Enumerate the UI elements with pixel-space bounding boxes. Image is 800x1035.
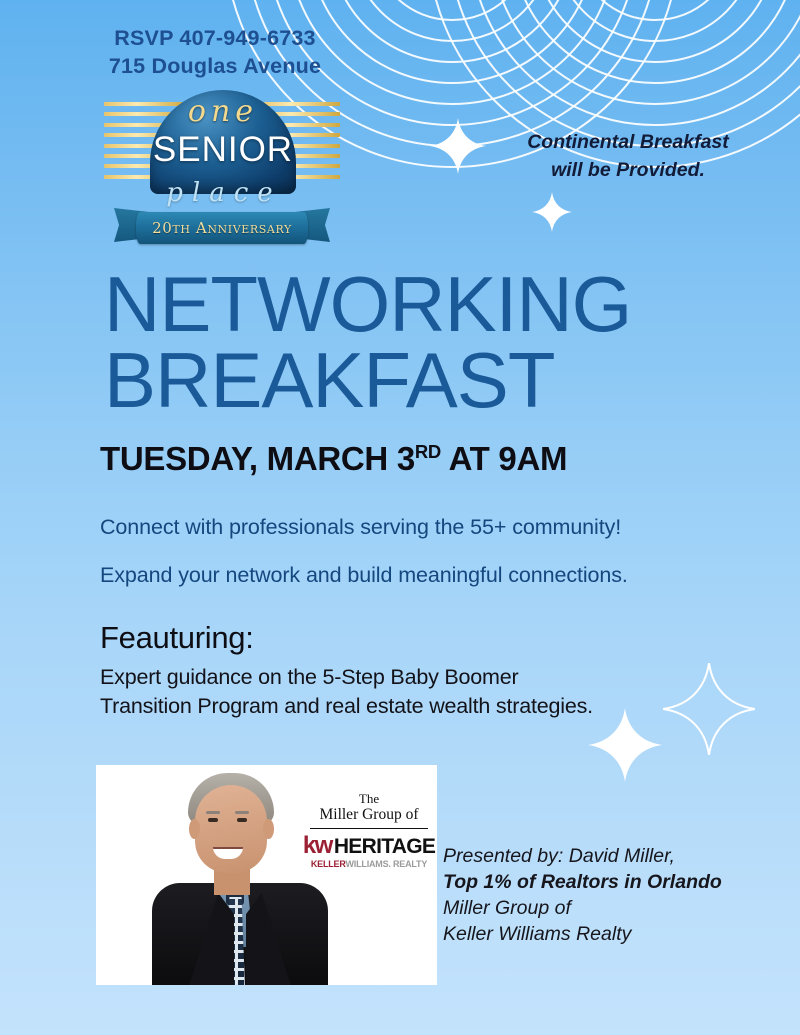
- kw-tagline-williams: WILLIAMS. REALTY: [346, 859, 428, 869]
- kw-logo-group-of: Miller Group of: [310, 806, 428, 829]
- decorative-ring: [553, 0, 757, 42]
- anniversary-label: 20th Anniversary: [136, 219, 308, 237]
- presenter-line4: Keller Williams Realty: [443, 921, 783, 947]
- breakfast-note-line1: Continental Breakfast: [478, 128, 778, 156]
- intro-line-2: Expand your network and build meaningful…: [100, 563, 628, 588]
- portrait-brow-left: [206, 811, 220, 814]
- presenter-photo-card: The Miller Group of kw HERITAGE KELLERWI…: [96, 765, 437, 985]
- headline-line1: NETWORKING: [104, 266, 784, 342]
- logo-word-place: place: [144, 178, 304, 208]
- headline-line2: BREAKFAST: [104, 342, 784, 418]
- decorative-ring: [448, 0, 800, 147]
- kw-brand-name: HERITAGE: [334, 836, 435, 857]
- sparkle-top-small: [532, 192, 572, 232]
- one-senior-place-logo: one SENIOR place 20th Anniversary: [104, 86, 340, 252]
- kw-monogram: kw: [303, 834, 332, 858]
- kw-logo-tagline: KELLERWILLIAMS. REALTY: [310, 860, 428, 869]
- featuring-body: Expert guidance on the 5-Step Baby Boome…: [100, 663, 700, 720]
- decorative-ring: [490, 0, 800, 105]
- presenter-line3: Miller Group of: [443, 895, 783, 921]
- kw-logo-wordmark: kw HERITAGE: [310, 834, 428, 858]
- anniversary-ribbon: 20th Anniversary: [114, 206, 330, 250]
- event-time-suffix: AT 9AM: [441, 440, 567, 477]
- breakfast-note-line2: will be Provided.: [478, 156, 778, 184]
- logo-word-senior: SENIOR: [144, 130, 302, 170]
- portrait-ear-right: [263, 819, 274, 839]
- portrait-ear-left: [189, 819, 200, 839]
- decorative-ring: [511, 0, 799, 84]
- decorative-ring: [469, 0, 800, 126]
- presenter-portrait: [158, 769, 320, 985]
- flyer-canvas: RSVP 407-949-6733 715 Douglas Avenue one…: [0, 0, 800, 1035]
- portrait-eye-left: [208, 818, 218, 822]
- portrait-eye-right: [237, 818, 247, 822]
- venue-address: 715 Douglas Avenue: [0, 52, 430, 80]
- decorative-ring: [532, 0, 778, 63]
- presenter-line1: Presented by: David Miller,: [443, 843, 783, 869]
- decorative-ring: [574, 0, 736, 21]
- event-date-prefix: TUESDAY, MARCH 3: [100, 440, 415, 477]
- portrait-face: [195, 785, 267, 873]
- featuring-line1: Expert guidance on the 5-Step Baby Boome…: [100, 663, 700, 692]
- intro-line-1: Connect with professionals serving the 5…: [100, 515, 621, 540]
- keller-williams-heritage-logo: The Miller Group of kw HERITAGE KELLERWI…: [310, 791, 428, 869]
- page-title: NETWORKING BREAKFAST: [104, 266, 784, 419]
- breakfast-note: Continental Breakfast will be Provided.: [478, 128, 778, 185]
- presenter-line2: Top 1% of Realtors in Orlando: [443, 869, 783, 895]
- featuring-heading: Feauturing:: [100, 620, 254, 656]
- kw-tagline-keller: KELLER: [311, 859, 346, 869]
- event-date-ordinal: RD: [415, 441, 441, 462]
- portrait-brow-right: [235, 811, 249, 814]
- contact-header: RSVP 407-949-6733 715 Douglas Avenue: [0, 24, 430, 81]
- decorative-ring: [371, 0, 533, 21]
- presenter-credits: Presented by: David Miller, Top 1% of Re…: [443, 843, 783, 948]
- logo-word-one: one: [150, 94, 296, 129]
- rsvp-phone: RSVP 407-949-6733: [0, 24, 430, 52]
- featuring-line2: Transition Program and real estate wealt…: [100, 692, 700, 721]
- event-datetime: TUESDAY, MARCH 3RD AT 9AM: [100, 440, 567, 478]
- kw-logo-the: The: [310, 791, 428, 806]
